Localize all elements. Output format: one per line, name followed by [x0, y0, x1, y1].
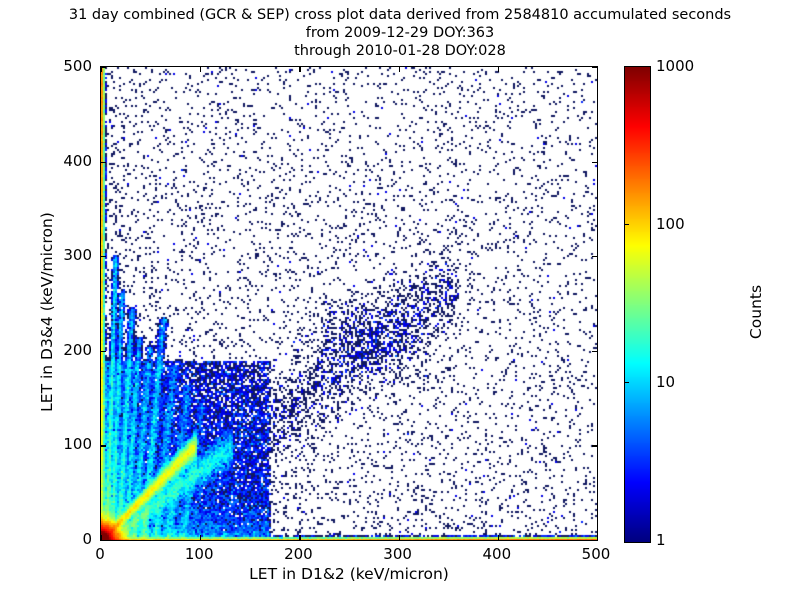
y-axis-label: LET in D3&4 (keV/micron) [38, 102, 56, 522]
y-tick-500 [101, 67, 106, 68]
colorbar-tick-100 [624, 224, 629, 225]
figure-root: 31 day combined (GCR & SEP) cross plot d… [0, 0, 800, 600]
x-tick-top-500 [597, 67, 598, 72]
y-tick-label-400: 400 [24, 152, 92, 170]
x-tick-300 [399, 535, 400, 540]
title-line-2: from 2009-12-29 DOY:363 [0, 24, 800, 42]
y-tick-300 [101, 256, 106, 257]
title-line-1: 31 day combined (GCR & SEP) cross plot d… [0, 6, 800, 24]
y-tick-label-100: 100 [24, 435, 92, 453]
colorbar-tick-1000 [624, 66, 629, 67]
x-tick-label-200: 200 [284, 545, 313, 563]
y-tick-400 [101, 162, 106, 163]
y-tick-label-300: 300 [24, 246, 92, 264]
y-tick-right-500 [592, 67, 597, 68]
colorbar-tick-10 [624, 382, 629, 383]
y-tick-right-100 [592, 445, 597, 446]
x-tick-label-500: 500 [582, 545, 611, 563]
colorbar-label-10: 10 [656, 373, 675, 391]
y-tick-100 [101, 445, 106, 446]
x-tick-label-100: 100 [185, 545, 214, 563]
y-tick-right-0 [592, 540, 597, 541]
counts-colorbar: 1101001000 [624, 66, 649, 541]
y-tick-right-200 [592, 351, 597, 352]
x-tick-top-300 [399, 67, 400, 72]
y-tick-label-500: 500 [24, 57, 92, 75]
y-tick-label-200: 200 [24, 341, 92, 359]
colorbar-gradient [624, 66, 651, 543]
x-tick-label-300: 300 [383, 545, 412, 563]
colorbar-label-100: 100 [656, 215, 685, 233]
colorbar-label-1000: 1000 [656, 57, 694, 75]
y-tick-200 [101, 351, 106, 352]
x-tick-label-400: 400 [482, 545, 511, 563]
colorbar-title: Counts [747, 162, 765, 462]
x-tick-label-0: 0 [95, 545, 105, 563]
y-tick-right-400 [592, 162, 597, 163]
x-tick-500 [597, 535, 598, 540]
x-tick-400 [498, 535, 499, 540]
figure-title: 31 day combined (GCR & SEP) cross plot d… [0, 6, 800, 60]
x-tick-100 [200, 535, 201, 540]
x-axis-label: LET in D1&2 (keV/micron) [100, 565, 598, 583]
y-tick-0 [101, 540, 106, 541]
x-tick-top-200 [299, 67, 300, 72]
let-cross-plot [100, 66, 598, 541]
x-tick-200 [299, 535, 300, 540]
x-tick-top-100 [200, 67, 201, 72]
y-tick-label-0: 0 [24, 530, 92, 548]
x-tick-top-400 [498, 67, 499, 72]
density-scatter-canvas [101, 67, 597, 540]
colorbar-label-1: 1 [656, 531, 666, 549]
y-tick-right-300 [592, 256, 597, 257]
